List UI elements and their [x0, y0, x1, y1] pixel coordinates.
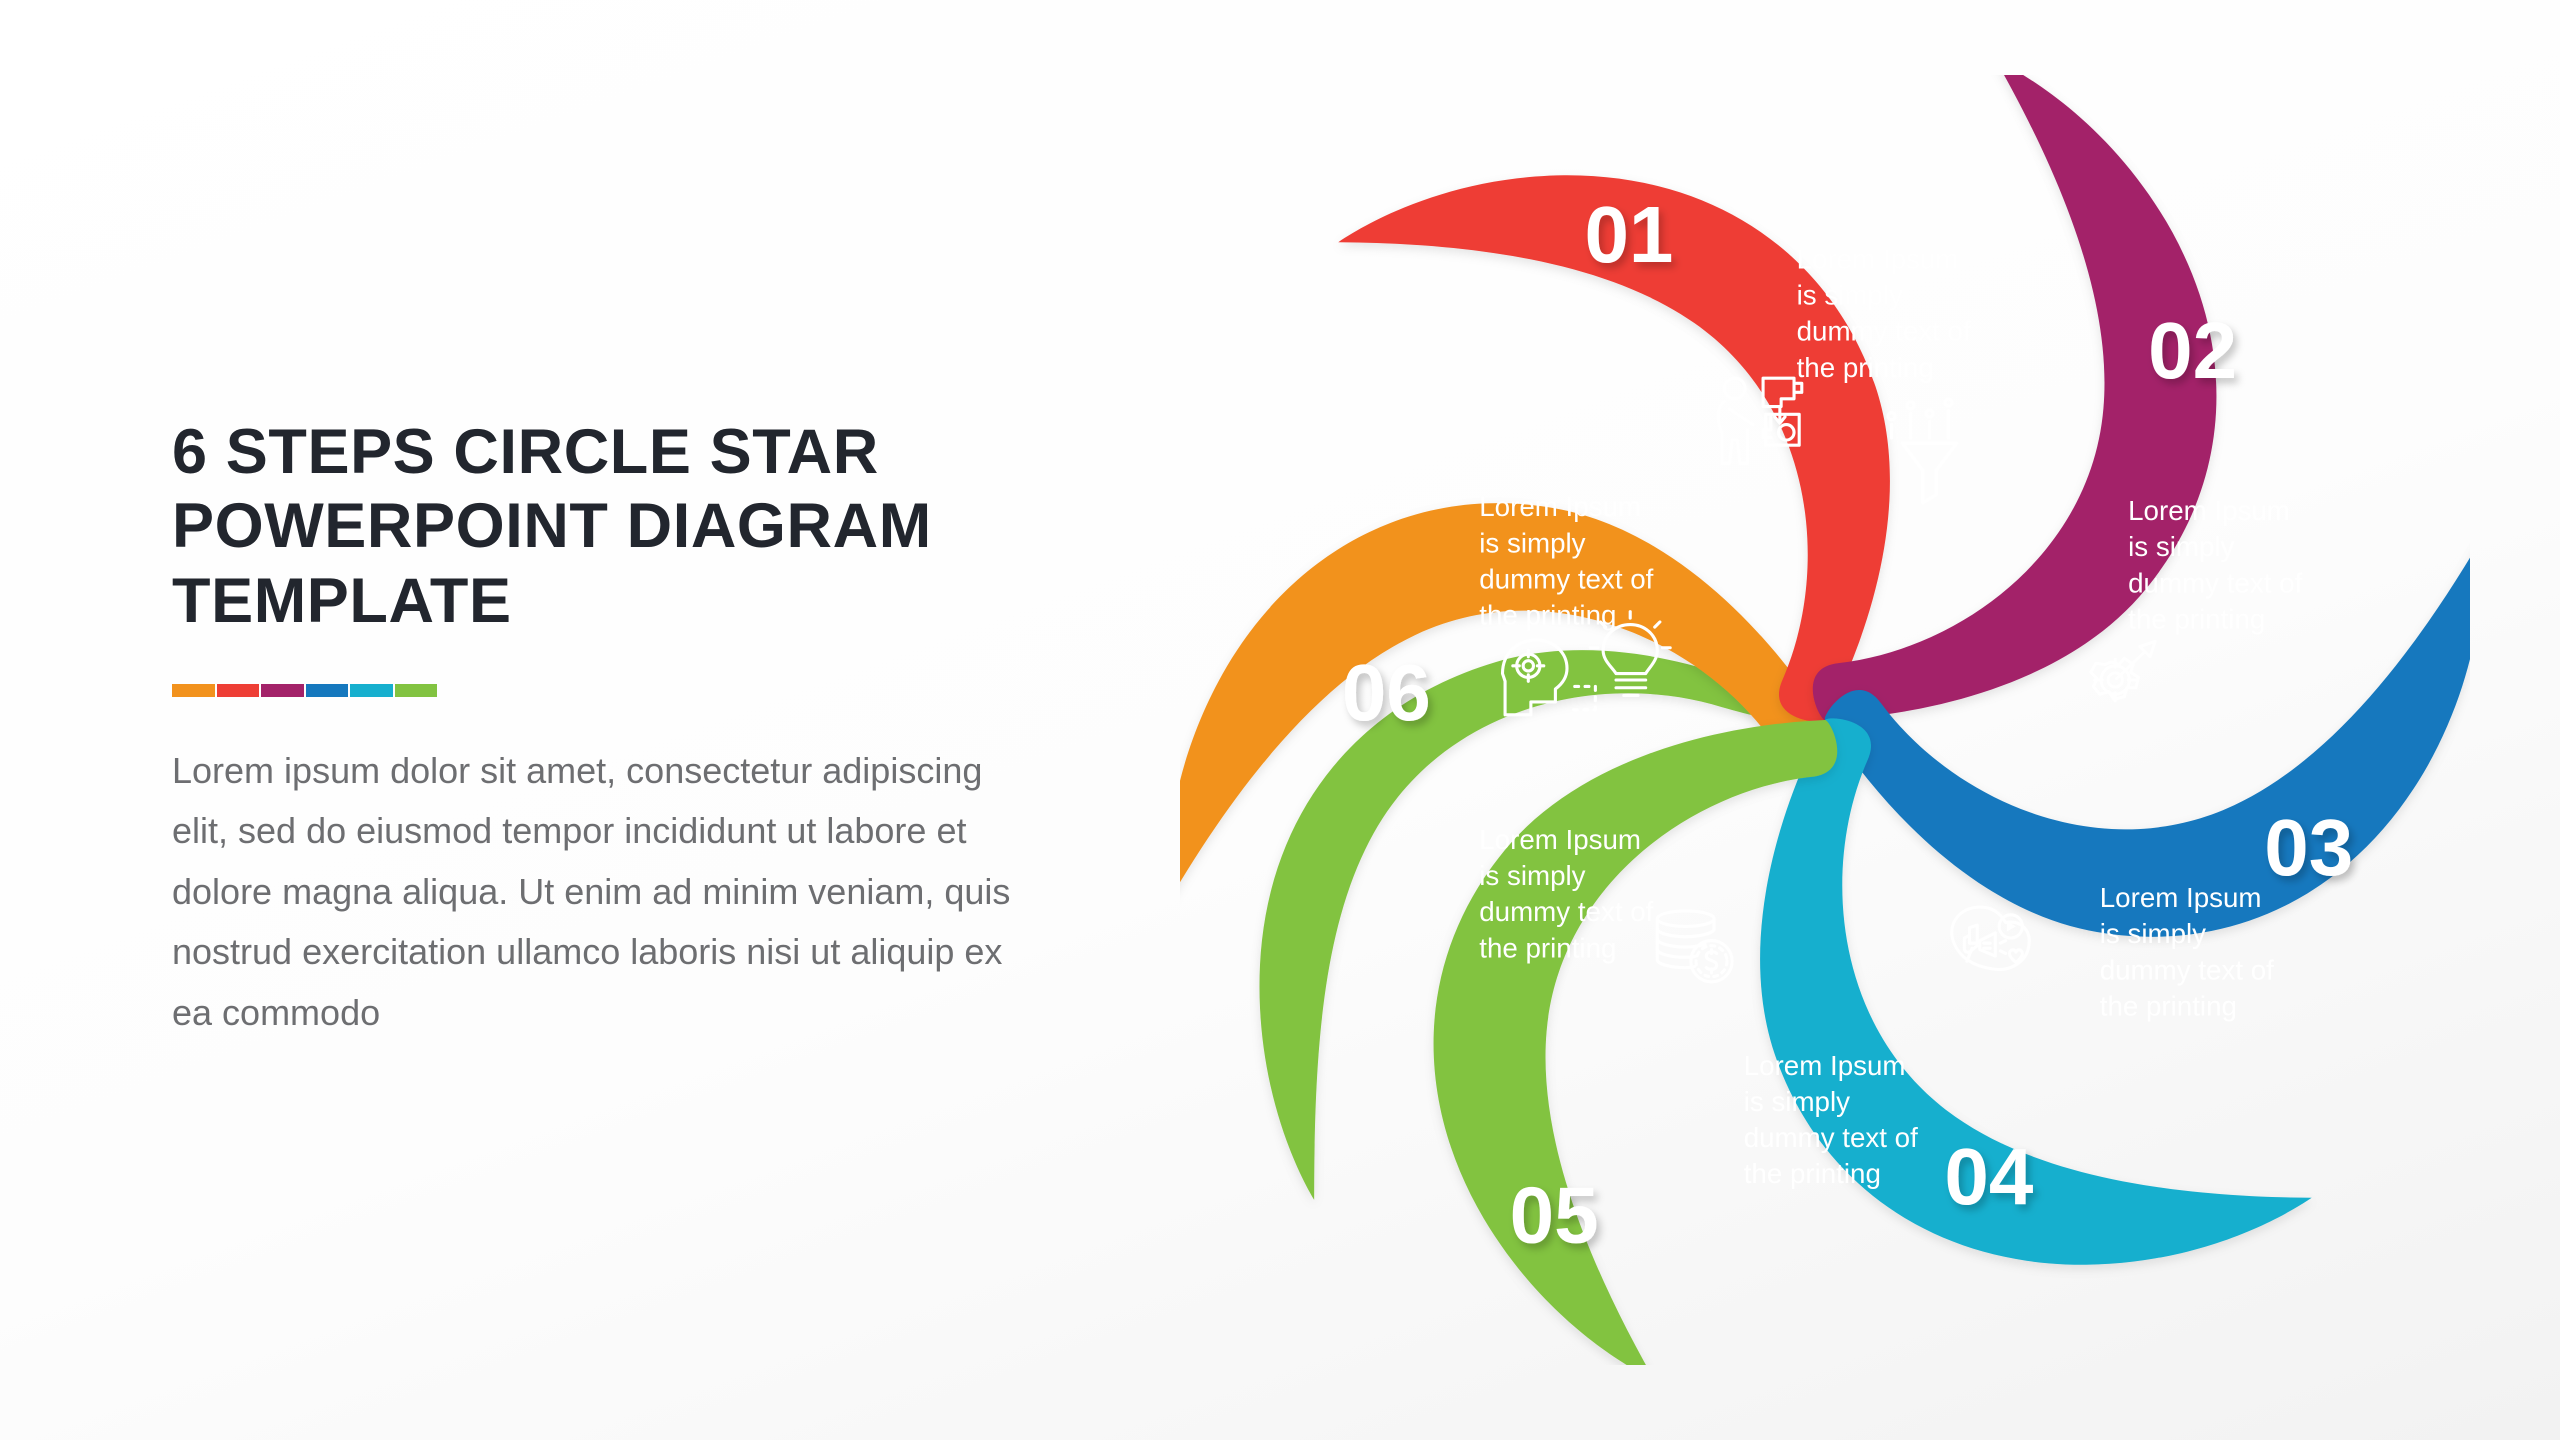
circle-star-diagram: 01 Lorem Ipsum is simply dummy text of t…: [1180, 75, 2470, 1365]
segment-03-number: 03: [2264, 803, 2353, 892]
segment-01-number: 01: [1584, 190, 1673, 279]
left-text-column: 6 STEPS CIRCLE STAR POWERPOINT DIAGRAM T…: [172, 415, 1052, 1043]
segment-02-text-line-4: the printing: [2128, 603, 2265, 634]
segment-02-text-line-1: Lorem Ipsum: [2128, 495, 2290, 526]
segment-04-text-line-3: dummy text of: [1744, 1122, 1918, 1153]
body-paragraph: Lorem ipsum dolor sit amet, consectetur …: [172, 741, 1012, 1043]
segment-06-text-line-1: Lorem Ipsum: [1479, 491, 1641, 522]
segment-05-text-line-1: Lorem Ipsum: [1479, 824, 1641, 855]
accent-segment-3: [261, 684, 304, 697]
coins-money-icon: [1657, 911, 1732, 982]
segment-04-text-line-2: is simply: [1744, 1086, 1850, 1117]
segment-01-text-line-3: dummy text of: [1797, 316, 1971, 347]
segment-05-text-line-4: the printing: [1479, 932, 1616, 963]
segment-01-text-line-2: is simply: [1797, 280, 1903, 311]
segment-05-blade[interactable]: [1750, 716, 2328, 1273]
accent-segment-6: [395, 684, 438, 697]
segment-03-text-line-1: Lorem Ipsum: [2100, 882, 2262, 913]
segment-04-text-line-1: Lorem Ipsum: [1744, 1050, 1906, 1081]
segment-06-text-line-4: the printing: [1479, 600, 1616, 631]
segment-05-number: 05: [1510, 1170, 1599, 1259]
segment-06-text-line-3: dummy text of: [1479, 563, 1653, 594]
gear-target-icon: [2091, 641, 2156, 700]
segment-01-text-line-1: Lorem Ipsum: [1797, 244, 1959, 275]
segment-03-text-line-2: is simply: [2100, 918, 2206, 949]
segment-02-text-line-3: dummy text of: [2128, 567, 2302, 598]
segment-02-text-line-2: is simply: [2128, 531, 2234, 562]
segment-03-text-line-3: dummy text of: [2100, 954, 2274, 985]
segment-06-number: 06: [1342, 648, 1431, 737]
accent-color-bar: [172, 684, 437, 697]
accent-segment-5: [350, 684, 393, 697]
segment-04-text-line-4: the printing: [1744, 1158, 1881, 1189]
segment-05-text-line-3: dummy text of: [1479, 896, 1653, 927]
segment-01-text-line-4: the printing: [1797, 352, 1934, 383]
segment-04-number: 04: [1944, 1132, 2033, 1221]
segment-06-text-line-2: is simply: [1479, 527, 1585, 558]
page-title: 6 STEPS CIRCLE STAR POWERPOINT DIAGRAM T…: [172, 415, 1052, 638]
accent-segment-2: [217, 684, 260, 697]
accent-segment-1: [172, 684, 215, 697]
accent-segment-4: [306, 684, 349, 697]
segment-02-number: 02: [2148, 306, 2237, 395]
segment-05-text-line-2: is simply: [1479, 860, 1585, 891]
funnel-filter-icon: [1888, 399, 1957, 503]
slide-canvas: 6 STEPS CIRCLE STAR POWERPOINT DIAGRAM T…: [0, 0, 2560, 1440]
segment-03-text-line-4: the printing: [2100, 990, 2237, 1021]
megaphone-social-icon: [1952, 907, 2029, 969]
